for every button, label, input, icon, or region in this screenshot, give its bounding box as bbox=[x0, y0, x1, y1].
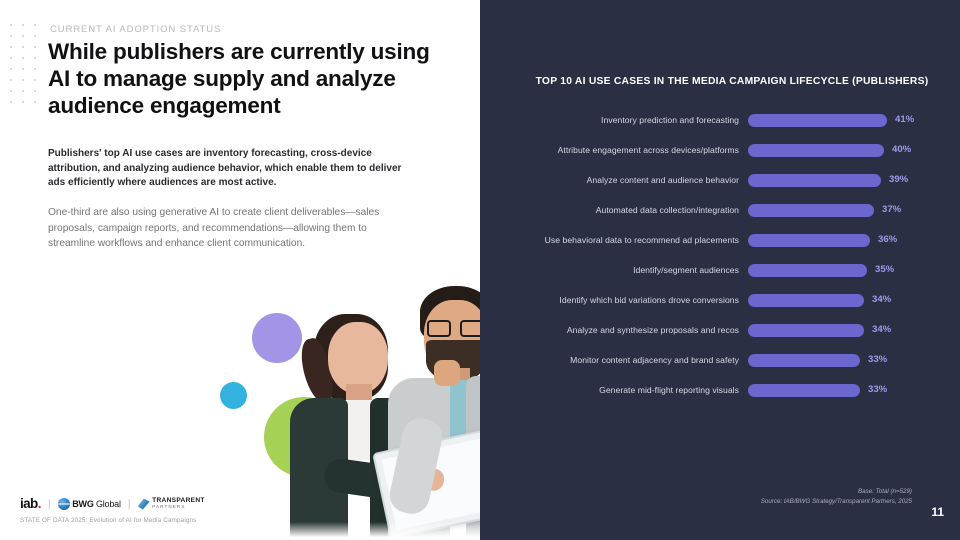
bar-chart: Inventory prediction and forecasting41%A… bbox=[480, 105, 960, 405]
chart-row: Automated data collection/integration37% bbox=[480, 195, 960, 225]
chart-row-label: Generate mid-flight reporting visuals bbox=[480, 385, 739, 395]
chart-row: Generate mid-flight reporting visuals33% bbox=[480, 375, 960, 405]
grid-dot bbox=[22, 90, 24, 92]
chart-bar-track: 33% bbox=[748, 384, 908, 397]
chart-row-label: Automated data collection/integration bbox=[480, 205, 739, 215]
chart-row: Analyze and synthesize proposals and rec… bbox=[480, 315, 960, 345]
chart-bar-track: 34% bbox=[748, 324, 908, 337]
dot-grid-decoration bbox=[10, 20, 46, 104]
chart-bar-track: 34% bbox=[748, 294, 908, 307]
grid-dot bbox=[34, 46, 36, 48]
slide: CURRENT AI ADOPTION STATUS While publish… bbox=[0, 0, 960, 540]
chart-bar bbox=[748, 264, 867, 277]
bwg-bold: BWG bbox=[72, 499, 93, 509]
globe-icon bbox=[58, 498, 70, 510]
chart-row-label: Identify which bid variations drove conv… bbox=[480, 295, 739, 305]
grid-dot bbox=[22, 57, 24, 59]
chart-row-label: Analyze content and audience behavior bbox=[480, 175, 739, 185]
grid-dot bbox=[10, 35, 12, 37]
page-number: 11 bbox=[931, 505, 944, 519]
iab-logo-dot: . bbox=[38, 496, 41, 511]
chart-bar-track: 35% bbox=[748, 264, 908, 277]
chart-bar-value: 36% bbox=[878, 234, 897, 245]
grid-dot bbox=[10, 46, 12, 48]
chart-panel: TOP 10 AI USE CASES IN THE MEDIA CAMPAIG… bbox=[480, 0, 960, 540]
leaf-icon bbox=[138, 499, 150, 510]
chart-bar bbox=[748, 324, 864, 337]
chart-row: Identify/segment audiences35% bbox=[480, 255, 960, 285]
grid-dot bbox=[10, 79, 12, 81]
chart-row-label: Analyze and synthesize proposals and rec… bbox=[480, 325, 739, 335]
chart-bar-value: 35% bbox=[875, 264, 894, 275]
chart-bar bbox=[748, 114, 887, 127]
grid-dot bbox=[10, 57, 12, 59]
page-title: While publishers are currently using AI … bbox=[48, 38, 448, 119]
grid-dot bbox=[34, 79, 36, 81]
chart-title: TOP 10 AI USE CASES IN THE MEDIA CAMPAIG… bbox=[480, 76, 942, 87]
chart-bar bbox=[748, 204, 874, 217]
chart-bar bbox=[748, 144, 884, 157]
chart-bar bbox=[748, 354, 860, 367]
grid-dot bbox=[34, 24, 36, 26]
grid-dot bbox=[22, 101, 24, 103]
logo-row: iab. | BWG Global | TRANSPARENT PARTNERS bbox=[20, 496, 350, 512]
grid-dot bbox=[22, 35, 24, 37]
chart-row-label: Monitor content adjacency and brand safe… bbox=[480, 355, 739, 365]
chart-bar-value: 41% bbox=[895, 114, 914, 125]
grid-dot bbox=[22, 46, 24, 48]
footer-left: iab. | BWG Global | TRANSPARENT PARTNERS… bbox=[20, 496, 350, 524]
grid-dot bbox=[10, 101, 12, 103]
grid-dot bbox=[22, 79, 24, 81]
chart-bar bbox=[748, 234, 870, 247]
lead-paragraph: Publishers' top AI use cases are invento… bbox=[48, 147, 403, 191]
chart-row-label: Identify/segment audiences bbox=[480, 265, 739, 275]
grid-dot bbox=[34, 90, 36, 92]
man-hand bbox=[434, 360, 460, 386]
grid-dot bbox=[34, 68, 36, 70]
tp-line-2: PARTNERS bbox=[152, 505, 205, 510]
grid-dot bbox=[34, 57, 36, 59]
grid-dot bbox=[22, 68, 24, 70]
base-note: Base: Total (n=529) bbox=[761, 487, 912, 497]
chart-bar bbox=[748, 294, 864, 307]
chart-row: Identify which bid variations drove conv… bbox=[480, 285, 960, 315]
logo-separator-2: | bbox=[128, 498, 131, 510]
grid-dot bbox=[10, 68, 12, 70]
footer-right: Base: Total (n=529) Source: IAB/BWG Stra… bbox=[761, 487, 912, 507]
chart-row-label: Attribute engagement across devices/plat… bbox=[480, 145, 739, 155]
chart-bar-track: 36% bbox=[748, 234, 908, 247]
chart-row-label: Inventory prediction and forecasting bbox=[480, 115, 739, 125]
chart-row-label: Use behavioral data to recommend ad plac… bbox=[480, 235, 739, 245]
chart-bar-track: 33% bbox=[748, 354, 908, 367]
chart-row: Inventory prediction and forecasting41% bbox=[480, 105, 960, 135]
grid-dot bbox=[34, 101, 36, 103]
grid-dot bbox=[10, 90, 12, 92]
logo-separator-1: | bbox=[48, 498, 51, 510]
transparent-partners-logo: TRANSPARENT PARTNERS bbox=[138, 498, 205, 509]
chart-bar-track: 37% bbox=[748, 204, 908, 217]
chart-bar-value: 37% bbox=[882, 204, 901, 215]
chart-row: Attribute engagement across devices/plat… bbox=[480, 135, 960, 165]
man-glasses-right-lens bbox=[460, 320, 480, 337]
iab-logo: iab. bbox=[20, 497, 41, 511]
bwg-logo-text: BWG Global bbox=[72, 499, 121, 509]
iab-logo-text: iab bbox=[20, 496, 38, 511]
grid-dot bbox=[34, 35, 36, 37]
left-content-panel: CURRENT AI ADOPTION STATUS While publish… bbox=[0, 0, 480, 540]
tp-logo-text: TRANSPARENT PARTNERS bbox=[152, 498, 205, 509]
deck-title: STATE OF DATA 2025: Evolution of AI for … bbox=[20, 517, 350, 524]
eyebrow-label: CURRENT AI ADOPTION STATUS bbox=[50, 24, 221, 35]
man-glasses-left-lens bbox=[427, 320, 451, 337]
body-paragraph: One-third are also using generative AI t… bbox=[48, 205, 408, 252]
chart-bar-value: 33% bbox=[868, 384, 887, 395]
chart-bar-track: 39% bbox=[748, 174, 908, 187]
chart-bar-value: 39% bbox=[889, 174, 908, 185]
source-note: Source: IAB/BWG Strategy/Transparent Par… bbox=[761, 497, 912, 507]
grid-dot bbox=[22, 24, 24, 26]
chart-bar-track: 40% bbox=[748, 144, 908, 157]
chart-bar-track: 41% bbox=[748, 114, 908, 127]
chart-bar-value: 34% bbox=[872, 324, 891, 335]
chart-row: Monitor content adjacency and brand safe… bbox=[480, 345, 960, 375]
chart-bar-value: 33% bbox=[868, 354, 887, 365]
chart-bar-value: 40% bbox=[892, 144, 911, 155]
chart-bar bbox=[748, 384, 860, 397]
bwg-global-logo: BWG Global bbox=[58, 498, 121, 510]
chart-bar bbox=[748, 174, 881, 187]
chart-row: Use behavioral data to recommend ad plac… bbox=[480, 225, 960, 255]
photo-fade-overlay bbox=[0, 522, 480, 540]
grid-dot bbox=[10, 24, 12, 26]
chart-row: Analyze content and audience behavior39% bbox=[480, 165, 960, 195]
chart-bar-value: 34% bbox=[872, 294, 891, 305]
bwg-light: Global bbox=[94, 499, 121, 509]
